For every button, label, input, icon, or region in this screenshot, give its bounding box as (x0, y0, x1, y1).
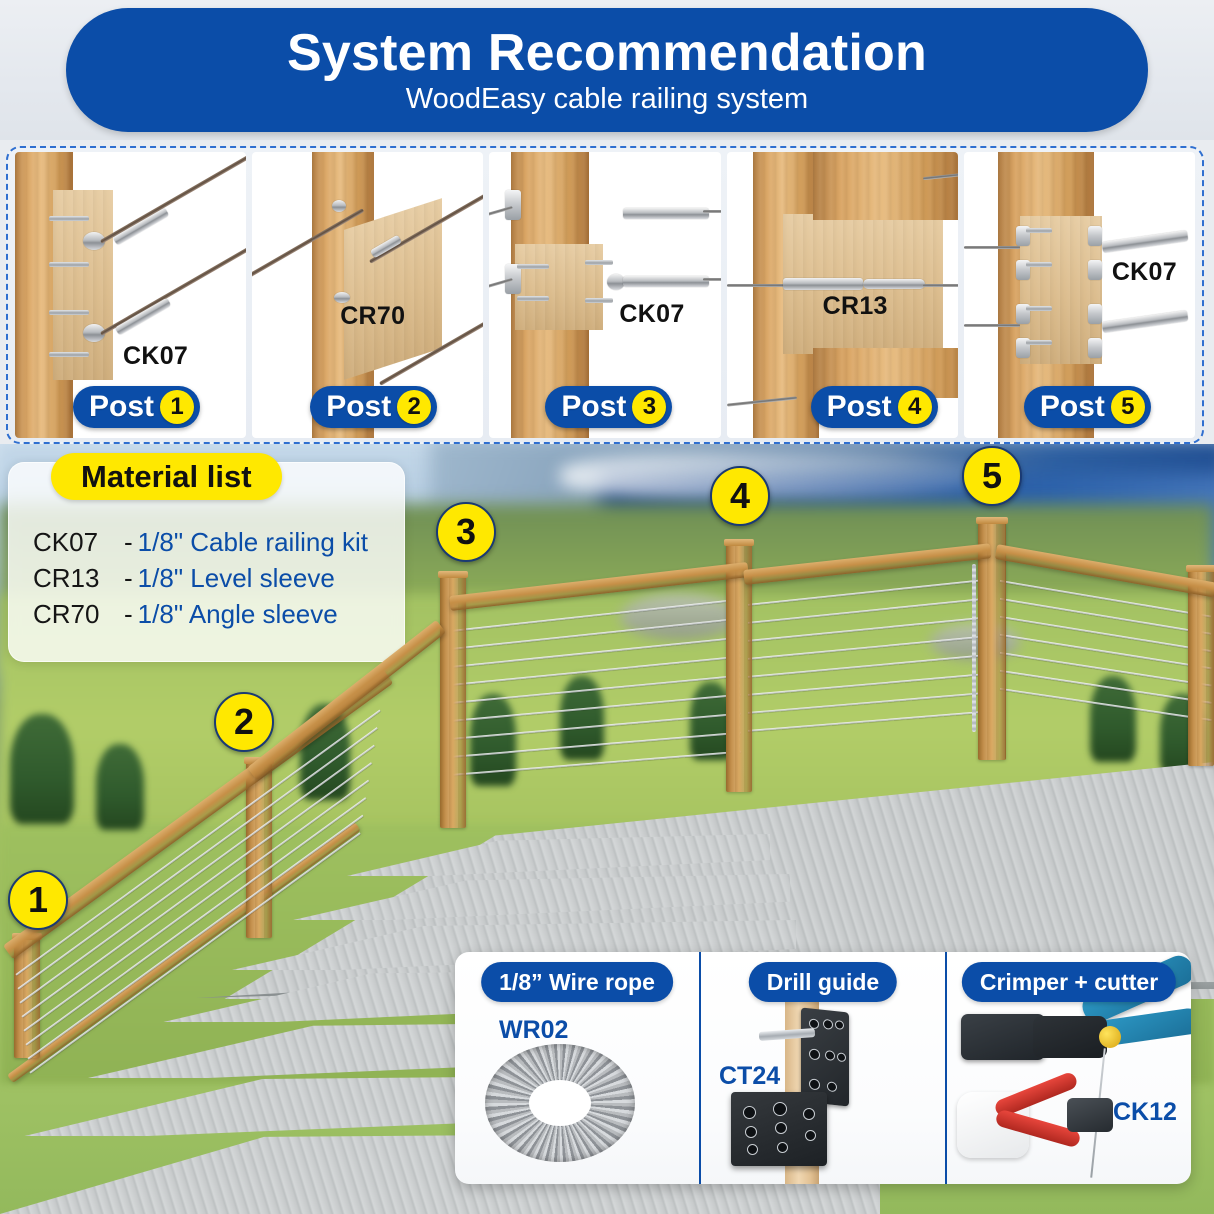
turnbuckle-icon (115, 298, 171, 336)
material-dash: - (119, 525, 138, 561)
screw-pin-icon (1026, 262, 1052, 267)
product-code: CK12 (1113, 1098, 1177, 1127)
cable-graphic (923, 284, 958, 287)
product-card-drill-guide[interactable]: Drill guide CT24 (699, 952, 945, 1184)
product-code: WR02 (499, 1016, 568, 1045)
post-badge-2[interactable]: Post 2 (310, 386, 437, 428)
material-description: 1/8" Angle sleeve (138, 597, 338, 633)
part-label: CR70 (340, 302, 405, 331)
tree-blur (10, 714, 74, 824)
turnbuckle-icon (623, 208, 709, 219)
material-code: CR13 (33, 561, 119, 597)
cable-clip-icon (1088, 304, 1102, 324)
scene-marker-4[interactable]: 4 (710, 466, 770, 526)
material-list-card: Material list CK07 - 1/8" Cable railing … (8, 462, 405, 662)
cable-graphic (964, 324, 1020, 327)
post-panel-strip: CK07 Post 1 CR70 Post 2 (6, 146, 1204, 444)
post-badge-5[interactable]: Post 5 (1024, 386, 1151, 428)
post-badge-4[interactable]: Post 4 (811, 386, 938, 428)
post-panel-5[interactable]: CK07 Post 5 (964, 152, 1195, 438)
scene-marker-3[interactable]: 3 (436, 502, 496, 562)
product-cards: 1/8” Wire rope WR02 Drill guide CT24 (455, 952, 1191, 1184)
post-badge-number: 1 (160, 390, 194, 424)
screw-pin-icon (517, 296, 549, 301)
post-panel-4[interactable]: CR13 Post 4 (727, 152, 958, 438)
material-list-rows: CK07 - 1/8" Cable railing kit CR13 - 1/8… (33, 525, 392, 633)
cable-clip-icon (1088, 260, 1102, 280)
turnbuckle-icon (1101, 310, 1188, 333)
cable-graphic (100, 155, 246, 243)
part-label: CK07 (619, 300, 684, 329)
post-panel-2[interactable]: CR70 Post 2 (252, 152, 483, 438)
sleeve-body-icon (863, 279, 925, 289)
header-band: System Recommendation WoodEasy cable rai… (0, 0, 1214, 140)
wood-rail-graphic (813, 152, 958, 220)
turnbuckle-icon (623, 276, 709, 287)
deck-post-right (1188, 570, 1214, 766)
part-label: CK07 (1112, 258, 1177, 287)
post-badge-3[interactable]: Post 3 (545, 386, 672, 428)
post-badge-number: 3 (632, 390, 666, 424)
material-row: CR70 - 1/8" Angle sleeve (33, 597, 392, 633)
material-row: CK07 - 1/8" Cable railing kit (33, 525, 392, 561)
product-code: CT24 (719, 1062, 780, 1091)
post-badge-label: Post (561, 392, 626, 422)
cable-graphic (727, 284, 789, 287)
screw-pin-icon (517, 264, 549, 269)
wood-cutout-graphic (515, 244, 603, 330)
part-label: CK07 (123, 342, 188, 371)
infographic-stage: System Recommendation WoodEasy cable rai… (0, 0, 1214, 1214)
product-card-title: Crimper + cutter (962, 962, 1176, 1002)
post-badge-number: 5 (1111, 390, 1145, 424)
cable-clip-icon (1088, 338, 1102, 358)
material-code: CK07 (33, 525, 119, 561)
screw-pin-icon (1026, 306, 1052, 311)
cable-graphic (703, 278, 720, 281)
cutter-jaw-icon (1067, 1098, 1113, 1132)
cable-clip-icon (1088, 226, 1102, 246)
page-subtitle: WoodEasy cable railing system (406, 85, 808, 114)
post-panel-1[interactable]: CK07 Post 1 (15, 152, 246, 438)
screw-pin-icon (49, 352, 89, 357)
material-code: CR70 (33, 597, 119, 633)
tree-blur (96, 744, 144, 830)
material-description: 1/8" Cable railing kit (138, 525, 368, 561)
material-description: 1/8" Level sleeve (138, 561, 335, 597)
post-panel-3[interactable]: CK07 Post 3 (489, 152, 720, 438)
scene-marker-1[interactable]: 1 (8, 870, 68, 930)
material-row: CR13 - 1/8" Level sleeve (33, 561, 392, 597)
page-title: System Recommendation (287, 27, 927, 79)
screw-pin-icon (585, 298, 613, 303)
crimper-logo-icon (1099, 1026, 1121, 1048)
scene-marker-5[interactable]: 5 (962, 446, 1022, 506)
header-pill: System Recommendation WoodEasy cable rai… (66, 8, 1148, 132)
part-label: CR13 (823, 292, 888, 321)
post-badge-1[interactable]: Post 1 (73, 386, 200, 428)
turnbuckle-icon (1101, 230, 1188, 253)
material-dash: - (119, 561, 138, 597)
post-badge-number: 4 (898, 390, 932, 424)
cable-graphic (964, 246, 1020, 249)
screw-pin-icon (1026, 340, 1052, 345)
screw-pin-icon (49, 262, 89, 267)
product-card-title: Drill guide (749, 962, 897, 1002)
cable-graphic (703, 210, 720, 213)
screw-pin-icon (1026, 228, 1052, 233)
material-list-title: Material list (51, 453, 282, 500)
wire-rope-coil-image (485, 1044, 635, 1162)
post-badge-number: 2 (397, 390, 431, 424)
screw-pin-icon (585, 260, 613, 265)
post-badge-label: Post (326, 392, 391, 422)
level-sleeve-icon (783, 278, 863, 290)
screw-pin-icon (49, 216, 89, 221)
cable-terminal-strip (972, 564, 976, 732)
scene-marker-2[interactable]: 2 (214, 692, 274, 752)
post-badge-label: Post (1040, 392, 1105, 422)
deck-post-3 (440, 576, 466, 828)
product-card-title: 1/8” Wire rope (481, 962, 673, 1002)
drill-guide-block-image (731, 1092, 827, 1166)
mountain-snow (560, 452, 980, 500)
post-badge-label: Post (827, 392, 892, 422)
cable-graphic (100, 242, 246, 335)
product-card-wire-rope[interactable]: 1/8” Wire rope WR02 (455, 952, 699, 1184)
crimper-body-image (1033, 1016, 1107, 1058)
post-badge-label: Post (89, 392, 154, 422)
material-dash: - (119, 597, 138, 633)
screw-pin-icon (49, 310, 89, 315)
product-card-crimper-cutter[interactable]: Crimper + cutter CK12 (945, 952, 1191, 1184)
cable-clip-icon (505, 190, 521, 220)
